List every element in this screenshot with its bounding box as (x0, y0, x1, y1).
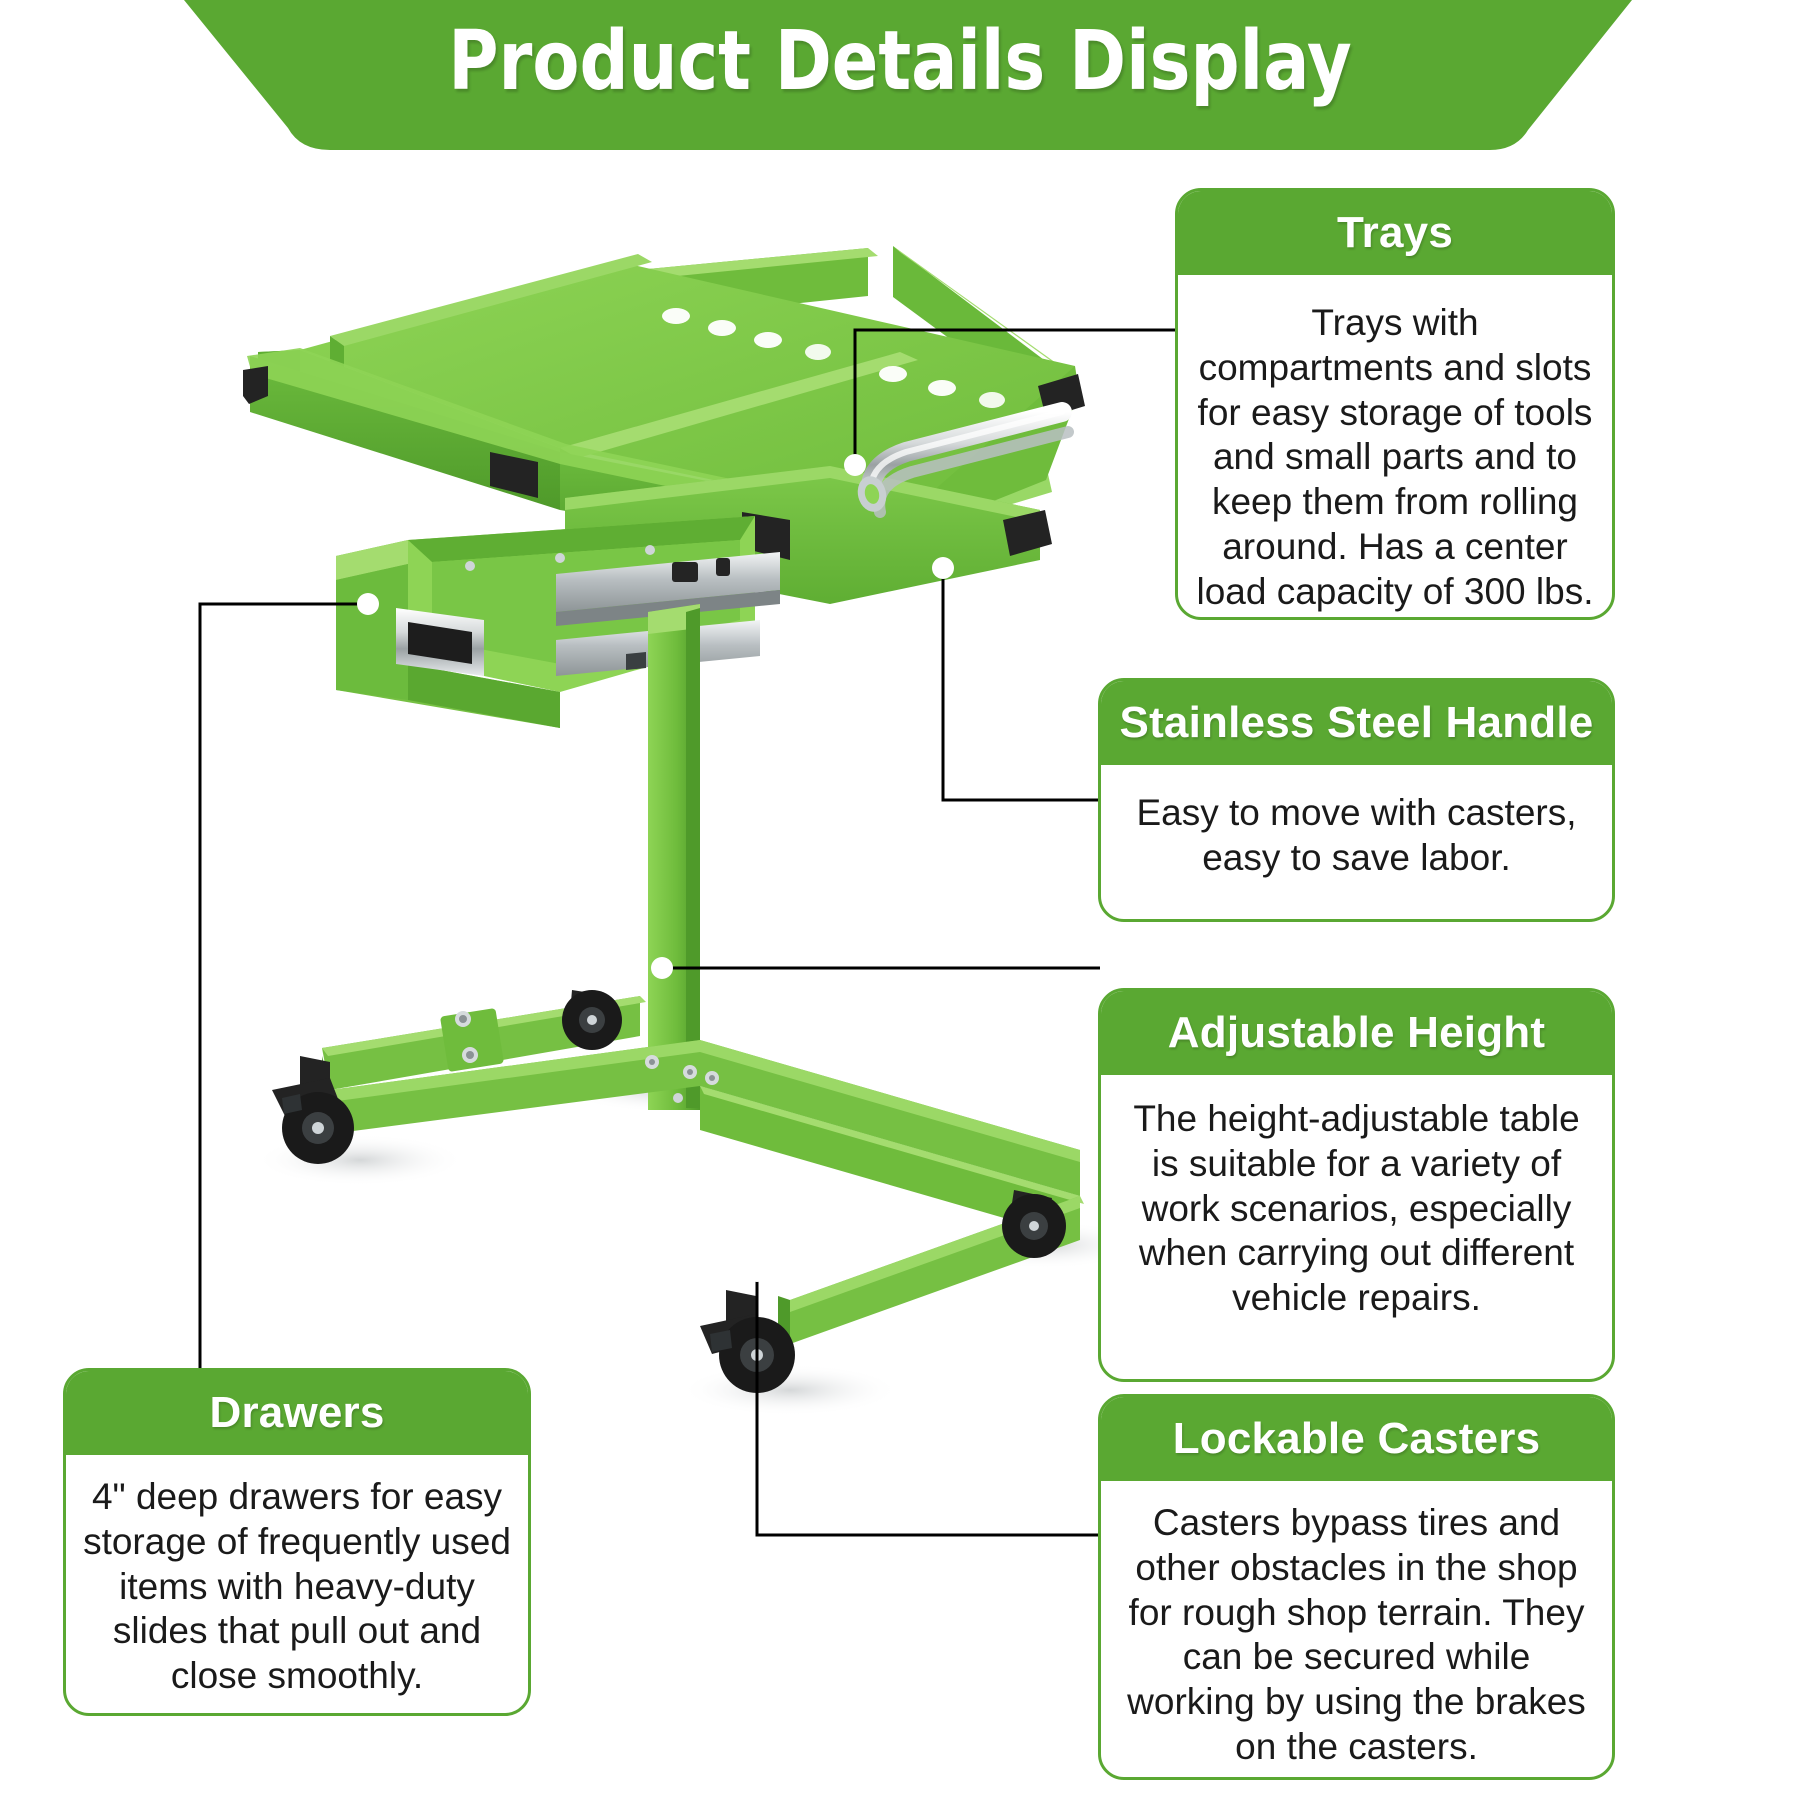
callout-title-casters: Lockable Casters (1101, 1397, 1612, 1481)
callout-title-drawers: Drawers (66, 1371, 528, 1455)
callout-body-drawers: 4" deep drawers for easy storage of freq… (66, 1455, 528, 1709)
callout-card-adjustable-height: Adjustable Height The height-adjustable … (1098, 988, 1615, 1382)
callout-title-handle: Stainless Steel Handle (1101, 681, 1612, 765)
infographic-root: Product Details Display (0, 0, 1800, 1800)
callout-body-trays: Trays with compartments and slots for ea… (1178, 275, 1612, 620)
callout-card-stainless-steel-handle: Stainless Steel Handle Easy to move with… (1098, 678, 1615, 922)
height-adjustable-column (648, 604, 700, 1110)
callout-body-handle: Easy to move with casters, easy to save … (1101, 765, 1612, 891)
callout-title-trays: Trays (1178, 191, 1612, 275)
drawer-handle[interactable] (396, 608, 484, 676)
callout-card-trays: Trays Trays with compartments and slots … (1175, 188, 1615, 620)
callout-card-drawers: Drawers 4" deep drawers for easy storage… (63, 1368, 531, 1716)
callout-body-casters: Casters bypass tires and other obstacles… (1101, 1481, 1612, 1780)
callout-title-height: Adjustable Height (1101, 991, 1612, 1075)
callout-card-lockable-casters: Lockable Casters Casters bypass tires an… (1098, 1394, 1615, 1780)
caster-rear-right (562, 990, 622, 1050)
callout-body-height: The height-adjustable table is suitable … (1101, 1075, 1612, 1331)
